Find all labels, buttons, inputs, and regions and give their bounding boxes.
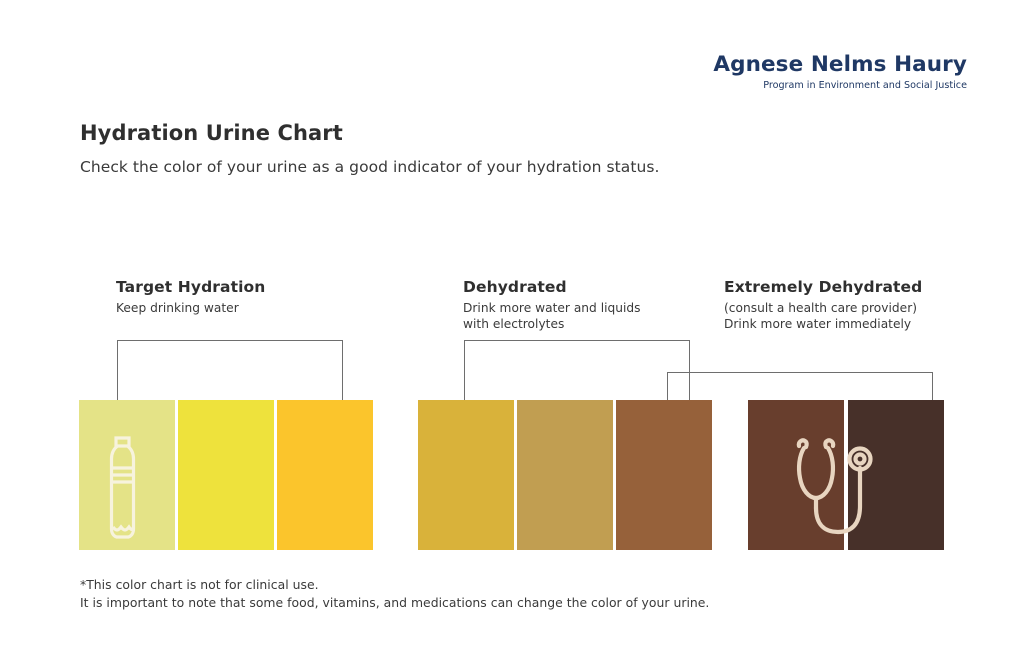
bracket-target-hydration [117, 340, 343, 401]
hydration-urine-chart-page: Agnese Nelms Haury Program in Environmen… [0, 0, 1024, 663]
footnote-line-2: It is important to note that some food, … [80, 594, 709, 612]
water-bottle-icon [100, 435, 145, 540]
group-title: Target Hydration [116, 279, 265, 297]
page-subtitle: Check the color of your urine as a good … [80, 158, 659, 176]
logo-organization-name: Agnese Nelms Haury [713, 54, 967, 77]
color-swatch [517, 400, 613, 550]
group-description-line: with electrolytes [463, 316, 641, 332]
group-title: Dehydrated [463, 279, 641, 297]
page-title: Hydration Urine Chart [80, 121, 343, 145]
group-description-line: (consult a health care provider) [724, 300, 922, 316]
group-label-dehydrated: Dehydrated Drink more water and liquids … [463, 279, 641, 332]
logo-program-subtitle: Program in Environment and Social Justic… [713, 80, 967, 91]
color-swatch [178, 400, 274, 550]
group-description-line: Drink more water immediately [724, 316, 922, 332]
footnote-line-1: *This color chart is not for clinical us… [80, 576, 709, 594]
footnote: *This color chart is not for clinical us… [80, 576, 709, 613]
color-swatch [277, 400, 373, 550]
group-description-line: Drink more water and liquids [463, 300, 641, 316]
haury-program-logo: Agnese Nelms Haury Program in Environmen… [713, 54, 967, 91]
stethoscope-icon [785, 432, 905, 544]
group-label-target-hydration: Target Hydration Keep drinking water [116, 279, 265, 316]
color-swatch [418, 400, 514, 550]
bracket-dehydrated [464, 340, 690, 401]
group-label-extremely-dehydrated: Extremely Dehydrated (consult a health c… [724, 279, 922, 332]
group-title: Extremely Dehydrated [724, 279, 922, 297]
group-description-line: Keep drinking water [116, 300, 265, 316]
color-swatch [616, 400, 712, 550]
bracket-extremely-dehydrated [667, 372, 933, 401]
